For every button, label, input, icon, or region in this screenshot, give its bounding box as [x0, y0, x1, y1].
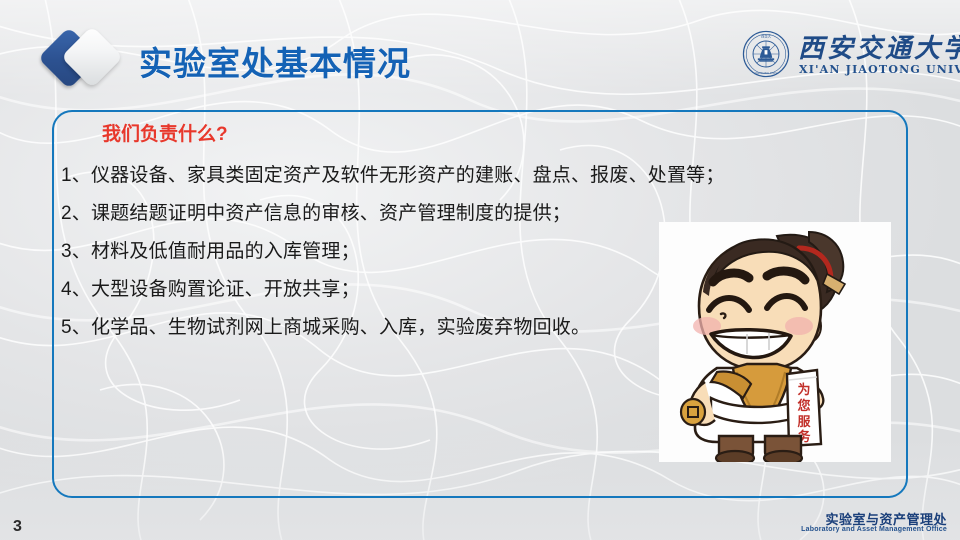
content-heading: 我们负责什么?: [102, 119, 228, 146]
slide-canvas: 实验室处基本情况 西交大 JIAOTONG UNIV 西安交通大学 X: [0, 0, 960, 540]
svg-text:JIAOTONG UNIV: JIAOTONG UNIV: [754, 71, 778, 75]
svg-text:服: 服: [797, 415, 811, 430]
svg-text:西交大: 西交大: [761, 34, 772, 39]
footer-org-name-en: Laboratory and Asset Management Office: [801, 526, 947, 533]
university-name-en: XI'AN JIAOTONG UNIVERSITY: [799, 63, 960, 76]
title-diamond-decoration: [44, 26, 140, 92]
smiling-innkeeper-mascot-icon: 为 您 服 务: [659, 222, 891, 462]
list-item: 1、仪器设备、家具类固定资产及软件无形资产的建账、盘点、报废、处置等；: [61, 157, 851, 195]
svg-text:您: 您: [797, 398, 810, 414]
university-seal-icon: 西交大 JIAOTONG UNIV: [742, 30, 790, 78]
university-name-cn: 西安交通大学: [798, 28, 960, 65]
page-title: 实验室处基本情况: [139, 37, 411, 85]
svg-text:为: 为: [797, 382, 810, 398]
mascot-image-frame: 为 您 服 务: [659, 222, 891, 462]
page-number: 3: [13, 518, 22, 536]
university-logo: 西交大 JIAOTONG UNIV 西安交通大学 XI'AN JIAOTONG …: [742, 28, 948, 84]
